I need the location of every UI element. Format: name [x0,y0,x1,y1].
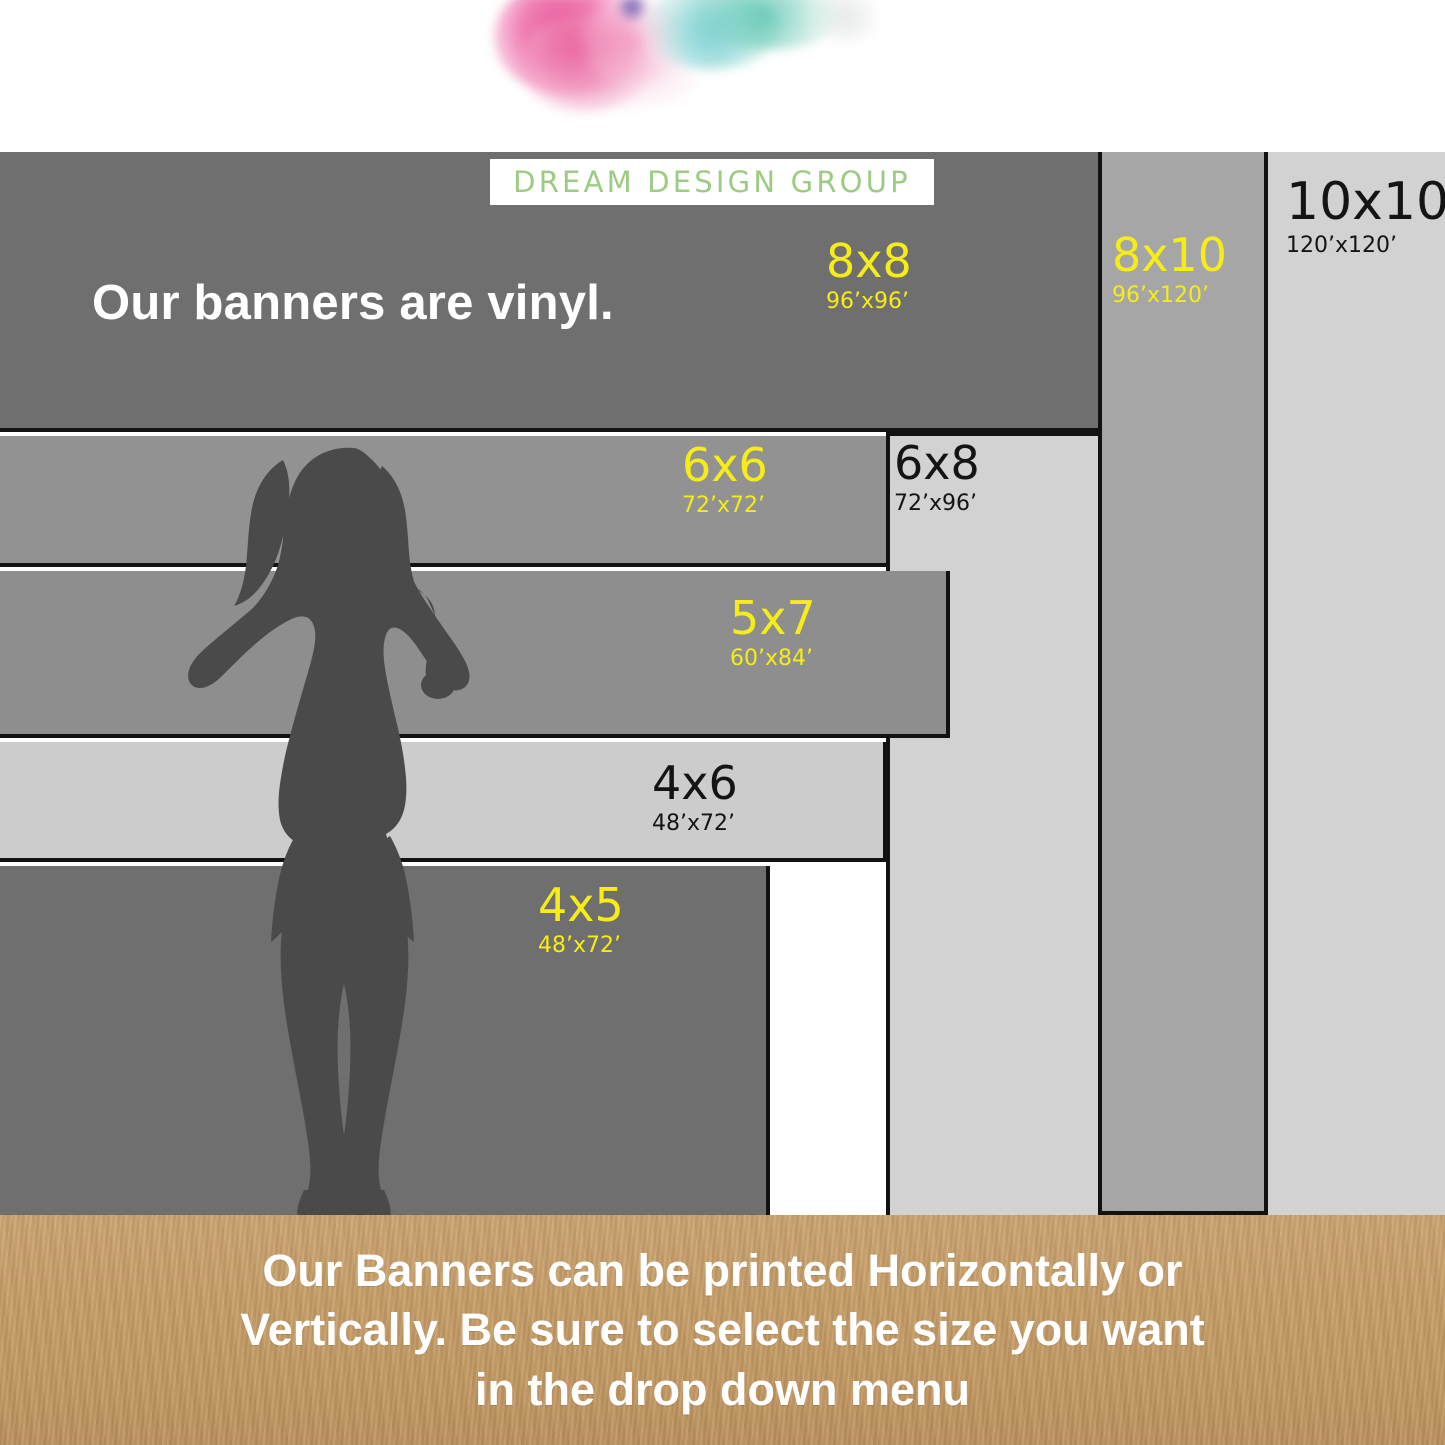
label-8x10-dimensions: 96’x120’ [1112,285,1227,307]
banner-rect-8x10[interactable] [1098,152,1268,1215]
label-8x8-size: 8x8 [826,238,912,284]
logo-wordmark-text: DREAM DESIGN GROUP [513,165,911,199]
banner-rect-6x8[interactable] [886,432,1098,1215]
label-4x5: 4x5 48’x72’ [538,882,624,957]
label-10x10: 10x10 120’x120’ [1286,176,1445,257]
footer-line-3: in the drop down menu [240,1360,1205,1419]
banner-size-chart: Our banners are vinyl. DREAM DESIGN GROU… [0,0,1445,1445]
label-5x7: 5x7 60’x84’ [730,595,816,670]
label-4x6: 4x6 48’x72’ [652,760,738,835]
label-4x5-size: 4x5 [538,882,624,928]
footer-line-2: Vertically. Be sure to select the size y… [240,1300,1205,1359]
logo-header [0,0,1445,152]
label-8x10-size: 8x10 [1112,232,1227,278]
label-6x8-size: 6x8 [894,440,980,486]
label-8x8-dimensions: 96’x96’ [826,291,912,313]
woman-silhouette-icon [186,440,496,1225]
label-10x10-dimensions: 120’x120’ [1286,235,1445,257]
watercolor-logo-icon [490,0,940,112]
label-4x6-dimensions: 48’x72’ [652,813,738,835]
footer-text: Our Banners can be printed Horizontally … [188,1241,1257,1419]
vinyl-headline: Our banners are vinyl. [92,275,614,331]
label-6x6-size: 6x6 [682,442,768,488]
label-5x7-size: 5x7 [730,595,816,641]
label-6x8-dimensions: 72’x96’ [894,493,980,515]
label-6x6-dimensions: 72’x72’ [682,495,768,517]
logo-wordmark-plate: DREAM DESIGN GROUP [490,159,934,205]
label-4x6-size: 4x6 [652,760,738,806]
label-6x6: 6x6 72’x72’ [682,442,768,517]
label-4x5-dimensions: 48’x72’ [538,935,624,957]
label-8x10: 8x10 96’x120’ [1112,232,1227,307]
footer-banner: Our Banners can be printed Horizontally … [0,1215,1445,1445]
footer-line-1: Our Banners can be printed Horizontally … [240,1241,1205,1300]
label-8x8: 8x8 96’x96’ [826,238,912,313]
label-5x7-dimensions: 60’x84’ [730,648,816,670]
banner-rect-10x10[interactable] [1268,152,1445,1215]
label-6x8: 6x8 72’x96’ [894,440,980,515]
label-10x10-size: 10x10 [1286,176,1445,228]
